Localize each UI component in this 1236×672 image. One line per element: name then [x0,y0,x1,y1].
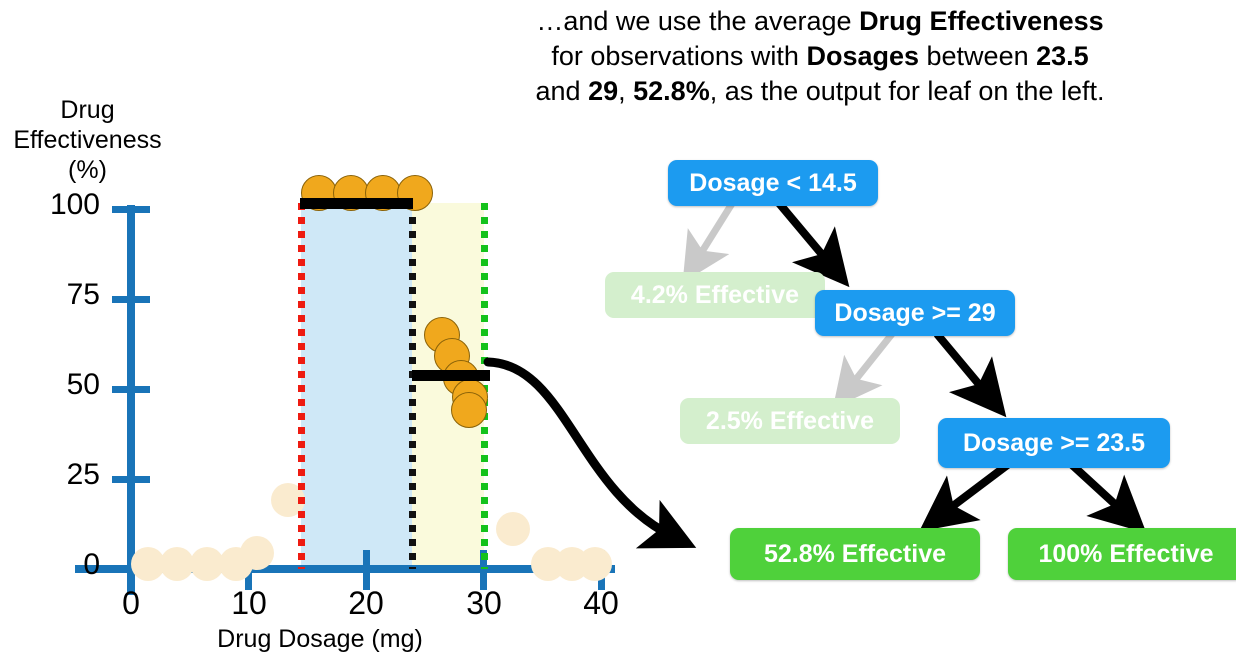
link-low-to-leaf4 [1070,463,1130,518]
data-point-faded [160,547,194,581]
x-tick-label-0: 0 [91,585,171,622]
x-axis-title: Drug Dosage (mg) [140,625,500,654]
caption-text: …and we use the average Drug Effectivene… [440,4,1200,109]
y-tick-100 [112,206,150,213]
tree-node-root[interactable]: Dosage < 14.5 [668,160,878,206]
y-axis-line [127,205,135,595]
band-14-5-to-23-5 [301,203,412,569]
y-tick-label-25: 25 [10,458,100,492]
tree-node-mid[interactable]: Dosage >= 29 [815,290,1015,336]
split-line-14-5 [298,203,305,569]
tree-leaf-4-2[interactable]: 4.2% Effective [605,272,825,318]
data-point-faded [240,536,274,570]
x-tick-label-30: 30 [444,585,524,622]
tree-node-low[interactable]: Dosage >= 23.5 [938,418,1170,468]
y-tick-label-75: 75 [10,278,100,312]
tree-leaf-100[interactable]: 100% Effective [1008,528,1236,580]
mean-line-100 [300,198,413,209]
link-root-to-leaf1 [693,202,733,266]
callout-arrow [460,340,740,570]
link-low-to-leaf3 [937,463,1010,518]
link-root-to-mid [778,202,835,270]
caption-line-1: …and we use the average Drug Effectivene… [536,6,1103,36]
callout-arrow-path [488,362,672,536]
link-mid-to-leaf2 [845,334,892,393]
split-line-23-5 [409,203,416,569]
x-tick-20 [363,550,370,590]
link-mid-to-low [937,334,992,400]
y-tick-75 [112,296,150,303]
y-tick-label-50: 50 [10,368,100,402]
y-tick-label-0: 0 [10,548,100,582]
y-tick-25 [112,476,150,483]
tree-leaf-52-8[interactable]: 52.8% Effective [730,528,980,580]
y-axis-title: Drug Effectiveness (%) [0,95,175,185]
y-tick-50 [112,386,150,393]
caption-line-2: for observations with Dosages between 23… [551,41,1088,71]
x-tick-label-10: 10 [209,585,289,622]
x-tick-label-20: 20 [326,585,406,622]
y-tick-label-100: 100 [10,188,100,222]
